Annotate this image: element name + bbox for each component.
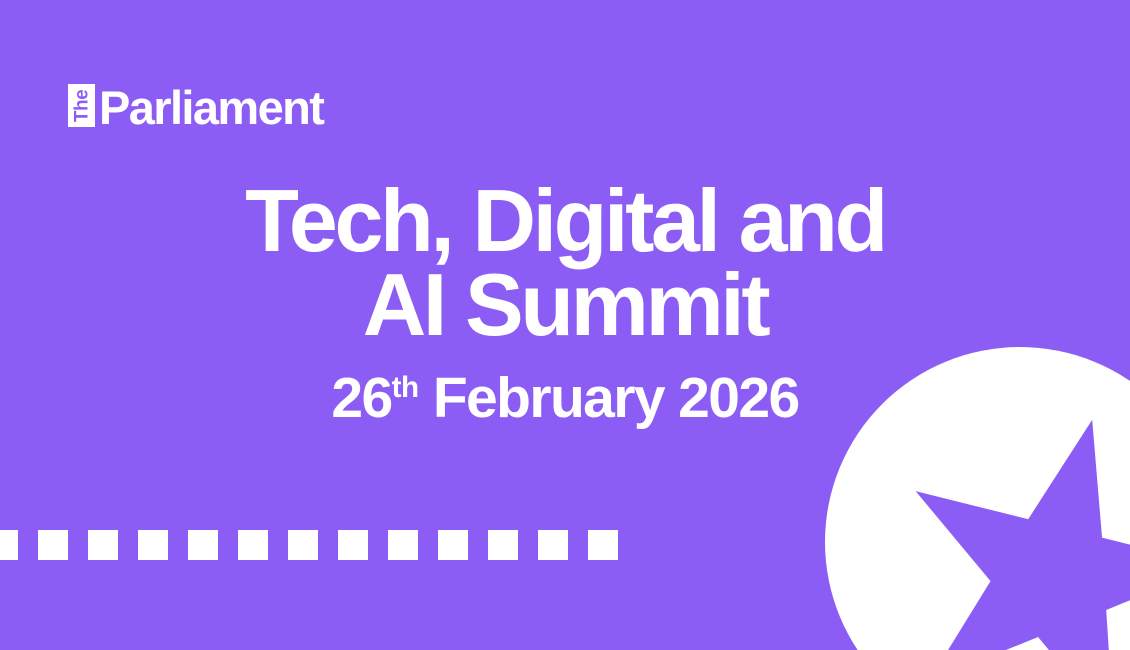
dash-square bbox=[188, 530, 218, 560]
dash-square bbox=[538, 530, 568, 560]
logo-the-label: The bbox=[72, 89, 91, 121]
dash-square bbox=[438, 530, 468, 560]
dash-square bbox=[488, 530, 518, 560]
dash-square bbox=[338, 530, 368, 560]
dash-square bbox=[588, 530, 618, 560]
event-date-ordinal: th bbox=[392, 371, 419, 404]
event-date-monthyear-text: February 2026 bbox=[433, 366, 799, 430]
event-date-month-year bbox=[419, 366, 433, 430]
logo-parliament-label: Parliament bbox=[99, 86, 323, 129]
event-date-day: 26 bbox=[331, 366, 391, 430]
dash-square bbox=[0, 530, 18, 560]
hero-text-block: Tech, Digital and AI Summit 26th Februar… bbox=[0, 178, 1130, 427]
event-banner: The Parliament Tech, Digital and AI Summ… bbox=[0, 0, 1130, 650]
dash-square bbox=[288, 530, 318, 560]
dash-square bbox=[238, 530, 268, 560]
hero-title-line-1: Tech, Digital and bbox=[0, 178, 1130, 264]
dash-square bbox=[138, 530, 168, 560]
event-date: 26th February 2026 bbox=[0, 370, 1130, 427]
hero-title-line-2: AI Summit bbox=[0, 262, 1130, 348]
dash-square bbox=[388, 530, 418, 560]
logo-the-box: The bbox=[68, 84, 95, 127]
dashed-square-rule bbox=[0, 530, 788, 560]
dash-square bbox=[88, 530, 118, 560]
the-parliament-logo[interactable]: The Parliament bbox=[68, 81, 323, 127]
dash-square bbox=[38, 530, 68, 560]
